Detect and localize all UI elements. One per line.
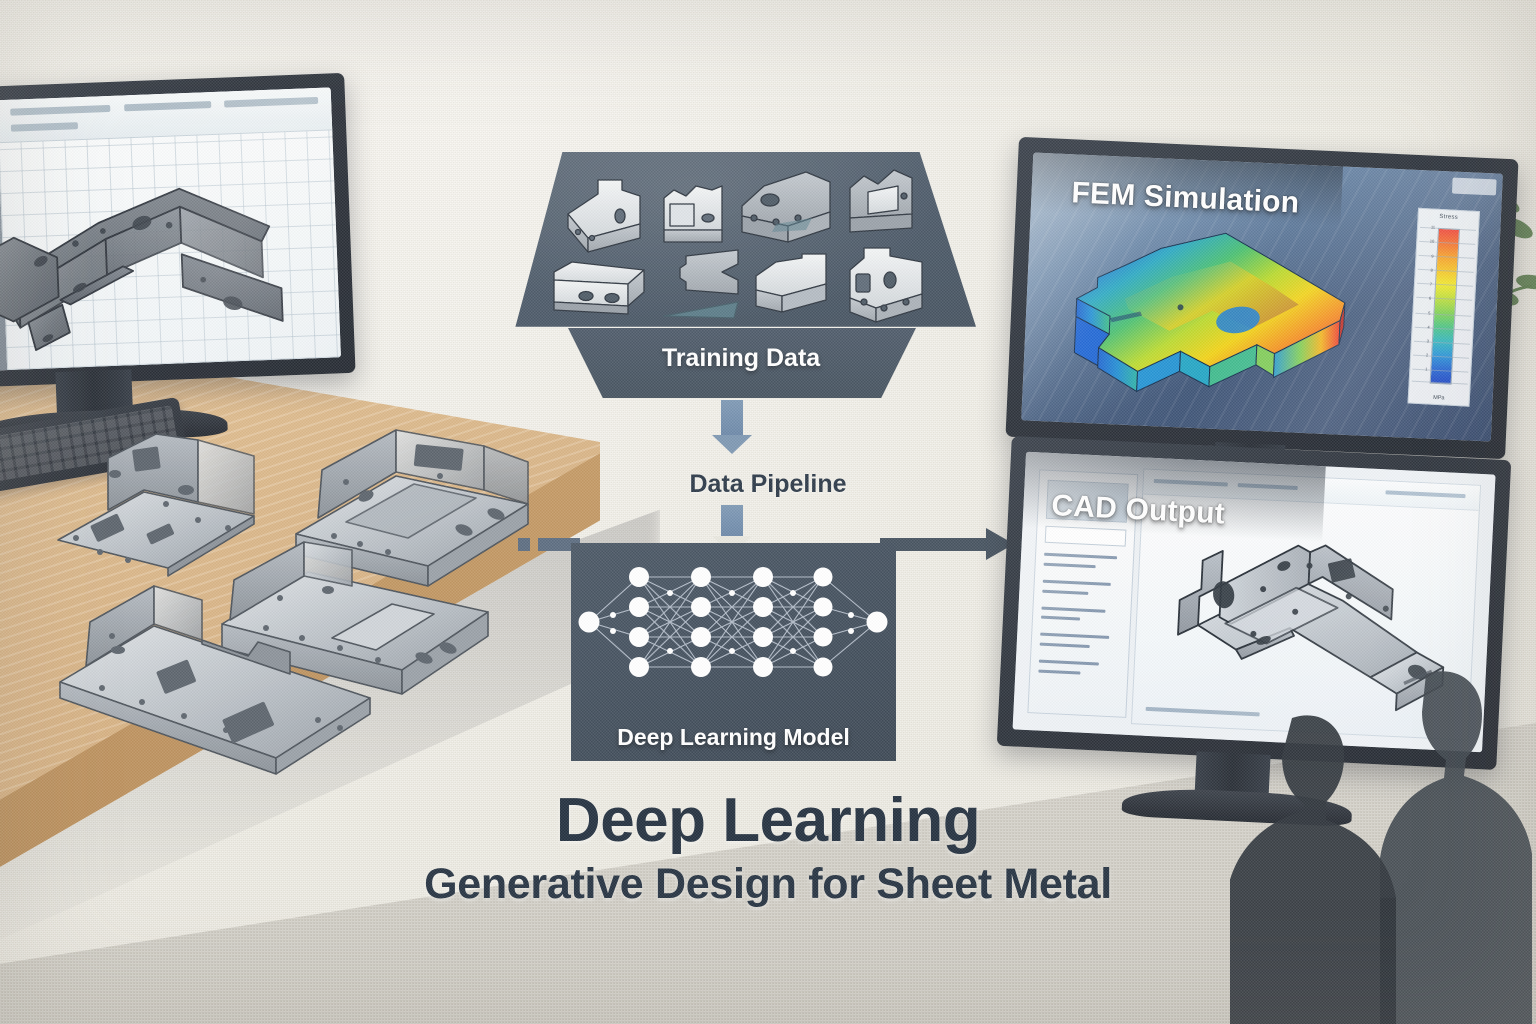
title-block: Deep Learning Generative Design for Shee… (0, 785, 1536, 909)
cad-bracket-model (0, 126, 332, 363)
scene-root: Training Data Data Pipeline (0, 0, 1536, 1024)
deep-learning-model-panel: Deep Learning Model (571, 543, 896, 761)
arrow-down-icon-training-to-pipeline (721, 400, 743, 436)
training-data-label: Training Data (506, 344, 976, 373)
legend-title: Stress (1419, 213, 1479, 222)
cad-workstation-monitor[interactable] (0, 73, 356, 391)
deep-learning-model-label: Deep Learning Model (571, 724, 896, 751)
desk-part-long-rail-bracket (50, 578, 380, 788)
fem-stress-contour-part (1058, 220, 1366, 423)
monitor-screen[interactable] (0, 87, 341, 374)
fem-color-legend: Stress 11 10 9 8 7 6 5 4 3 2 (1408, 208, 1481, 407)
legend-unit-label: MPa (1409, 394, 1469, 403)
fem-toolbar[interactable] (1452, 178, 1497, 196)
page-subtitle: Generative Design for Sheet Metal (0, 860, 1536, 909)
training-sample-models (506, 152, 976, 342)
training-data-group: Training Data (506, 152, 976, 392)
dashed-connector-segment-a (518, 538, 530, 551)
arrow-down-icon-pipeline-to-model (721, 505, 743, 537)
monitor-screen[interactable]: Stress 11 10 9 8 7 6 5 4 3 2 (1021, 152, 1503, 441)
neural-network-diagram (571, 547, 896, 697)
cad-application-window (0, 87, 341, 374)
cad-name-field[interactable] (1045, 526, 1127, 547)
arrow-right-icon-model-to-output (880, 538, 988, 551)
fem-simulation-monitor[interactable]: Stress 11 10 9 8 7 6 5 4 3 2 (1005, 137, 1518, 459)
page-title: Deep Learning (0, 785, 1536, 856)
